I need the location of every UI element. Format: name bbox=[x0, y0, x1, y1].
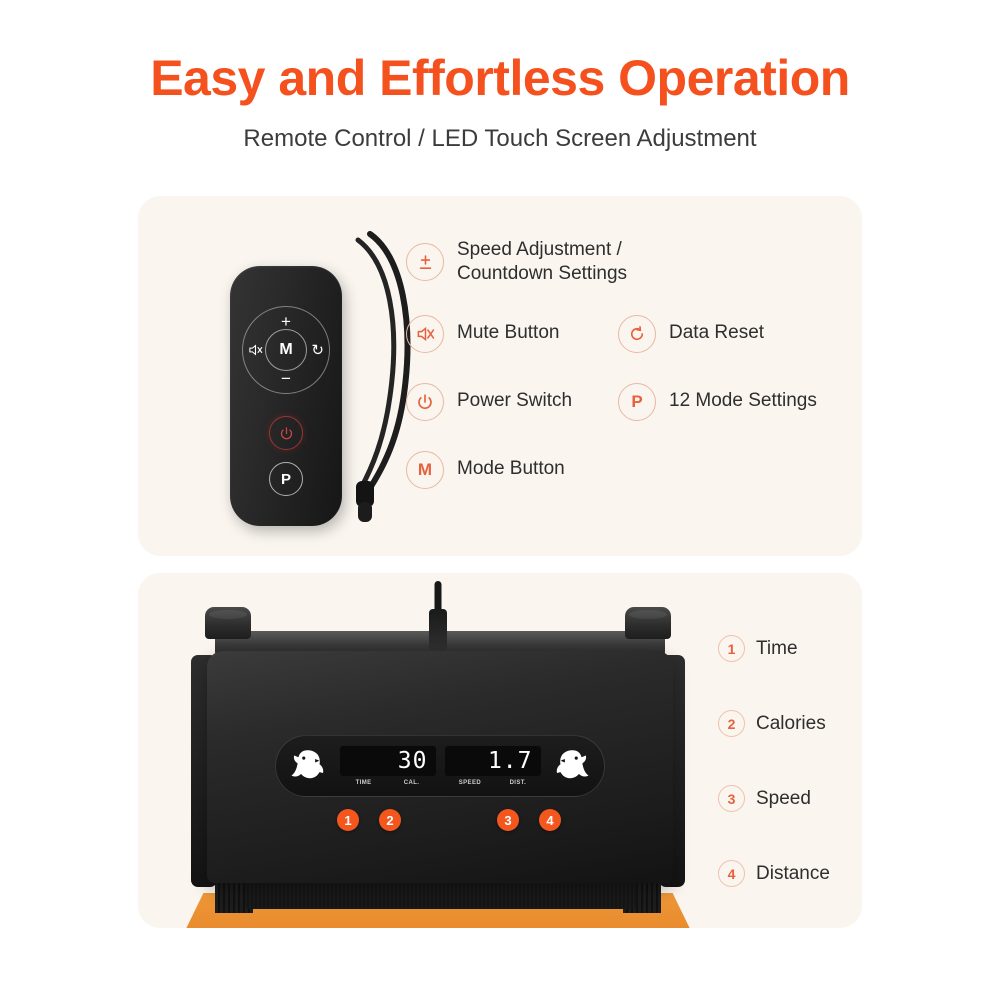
legend-label-data-reset: Data Reset bbox=[669, 321, 764, 345]
mute-icon bbox=[406, 315, 444, 353]
label-dist: DIST. bbox=[510, 780, 527, 786]
console-legend-label-speed: Speed bbox=[756, 788, 811, 810]
legend-item-speed-adjustment[interactable]: Speed Adjustment / Countdown Settings bbox=[406, 238, 856, 287]
label-speed: SPEED bbox=[459, 780, 481, 786]
console-legend-label-distance: Distance bbox=[756, 863, 830, 885]
led-value-left: 30 bbox=[340, 746, 436, 776]
led-readouts: 30 TIME CAL. 1.7 SPEED DIST. bbox=[340, 746, 541, 786]
badge-4: 4 bbox=[539, 809, 561, 831]
treadmill-illustration: 30 TIME CAL. 1.7 SPEED DIST. bbox=[183, 595, 693, 928]
led-value-right: 1.7 bbox=[445, 746, 541, 776]
legend-row-mute-reset: Mute Button Data Reset bbox=[406, 315, 856, 383]
legend-line-2: Countdown Settings bbox=[457, 263, 627, 284]
badge-3: 3 bbox=[497, 809, 519, 831]
page-subtitle: Remote Control / LED Touch Screen Adjust… bbox=[0, 125, 1000, 153]
legend-label-speed-adjustment: Speed Adjustment / Countdown Settings bbox=[457, 238, 627, 287]
number-badge-3: 3 bbox=[718, 785, 745, 812]
legend-item-mode-settings[interactable]: P 12 Mode Settings bbox=[618, 383, 817, 421]
dog-icon-left bbox=[288, 746, 330, 786]
legend-label-mode-button: Mode Button bbox=[457, 457, 565, 481]
number-badge-2: 2 bbox=[718, 710, 745, 737]
remote-control-card: + − ↻ M P bbox=[138, 196, 862, 556]
console-body: 30 TIME CAL. 1.7 SPEED DIST. bbox=[207, 651, 673, 883]
console-legend-label-calories: Calories bbox=[756, 713, 826, 735]
power-plug bbox=[428, 609, 448, 657]
power-icon bbox=[406, 383, 444, 421]
label-time: TIME bbox=[356, 780, 372, 786]
remote-body[interactable]: + − ↻ M P bbox=[230, 266, 342, 526]
dpad-reset-icon[interactable]: ↻ bbox=[311, 341, 324, 359]
adjustment-knob-left[interactable] bbox=[205, 607, 251, 639]
led-group-speed-dist: 1.7 SPEED DIST. bbox=[445, 746, 541, 786]
legend-label-mode-settings: 12 Mode Settings bbox=[669, 389, 817, 413]
remote-legend: Speed Adjustment / Countdown Settings Mu… bbox=[406, 238, 856, 489]
console-legend: 1 Time 2 Calories 3 Speed 4 Distance bbox=[718, 635, 830, 887]
console-legend-item-speed[interactable]: 3 Speed bbox=[718, 785, 830, 812]
console-display-card: 30 TIME CAL. 1.7 SPEED DIST. bbox=[138, 573, 862, 928]
program-icon: P bbox=[618, 383, 656, 421]
remote-device-illustration: + − ↻ M P bbox=[178, 226, 428, 526]
led-labels-left: TIME CAL. bbox=[340, 780, 436, 786]
legend-label-mute: Mute Button bbox=[457, 321, 559, 345]
legend-item-power-switch[interactable]: Power Switch bbox=[406, 383, 572, 421]
led-labels-right: SPEED DIST. bbox=[445, 780, 541, 786]
label-cal: CAL. bbox=[404, 780, 420, 786]
legend-item-data-reset[interactable]: Data Reset bbox=[618, 315, 764, 353]
legend-label-power-switch: Power Switch bbox=[457, 389, 572, 413]
console-legend-item-distance[interactable]: 4 Distance bbox=[718, 860, 830, 887]
dpad-mute-icon[interactable] bbox=[248, 344, 263, 357]
console-legend-label-time: Time bbox=[756, 638, 798, 660]
mode-icon: M bbox=[406, 451, 444, 489]
legend-item-mute[interactable]: Mute Button bbox=[406, 315, 559, 353]
console-number-badges: 1 2 3 4 bbox=[275, 809, 605, 831]
legend-line-1: Speed Adjustment / bbox=[457, 239, 622, 260]
dpad-mode-button[interactable]: M bbox=[265, 329, 307, 371]
page-header: Easy and Effortless Operation Remote Con… bbox=[0, 0, 1000, 153]
led-group-time-cal: 30 TIME CAL. bbox=[340, 746, 436, 786]
console-legend-item-time[interactable]: 1 Time bbox=[718, 635, 830, 662]
remote-dpad[interactable]: + − ↻ M bbox=[242, 306, 330, 394]
plug-body bbox=[429, 609, 447, 651]
console-legend-item-calories[interactable]: 2 Calories bbox=[718, 710, 830, 737]
remote-program-button[interactable]: P bbox=[269, 462, 303, 496]
plus-minus-icon bbox=[406, 243, 444, 281]
number-badge-4: 4 bbox=[718, 860, 745, 887]
page-title: Easy and Effortless Operation bbox=[0, 52, 1000, 105]
legend-row-power-modes: Power Switch P 12 Mode Settings bbox=[406, 383, 856, 451]
remote-power-button[interactable] bbox=[269, 416, 303, 450]
led-touch-screen[interactable]: 30 TIME CAL. 1.7 SPEED DIST. bbox=[275, 735, 605, 797]
legend-item-mode-button[interactable]: M Mode Button bbox=[406, 451, 856, 489]
adjustment-knob-right[interactable] bbox=[625, 607, 671, 639]
dog-icon-right bbox=[550, 746, 592, 786]
badge-2: 2 bbox=[379, 809, 401, 831]
dpad-minus-icon[interactable]: − bbox=[281, 369, 291, 389]
reset-icon bbox=[618, 315, 656, 353]
number-badge-1: 1 bbox=[718, 635, 745, 662]
badge-1: 1 bbox=[337, 809, 359, 831]
